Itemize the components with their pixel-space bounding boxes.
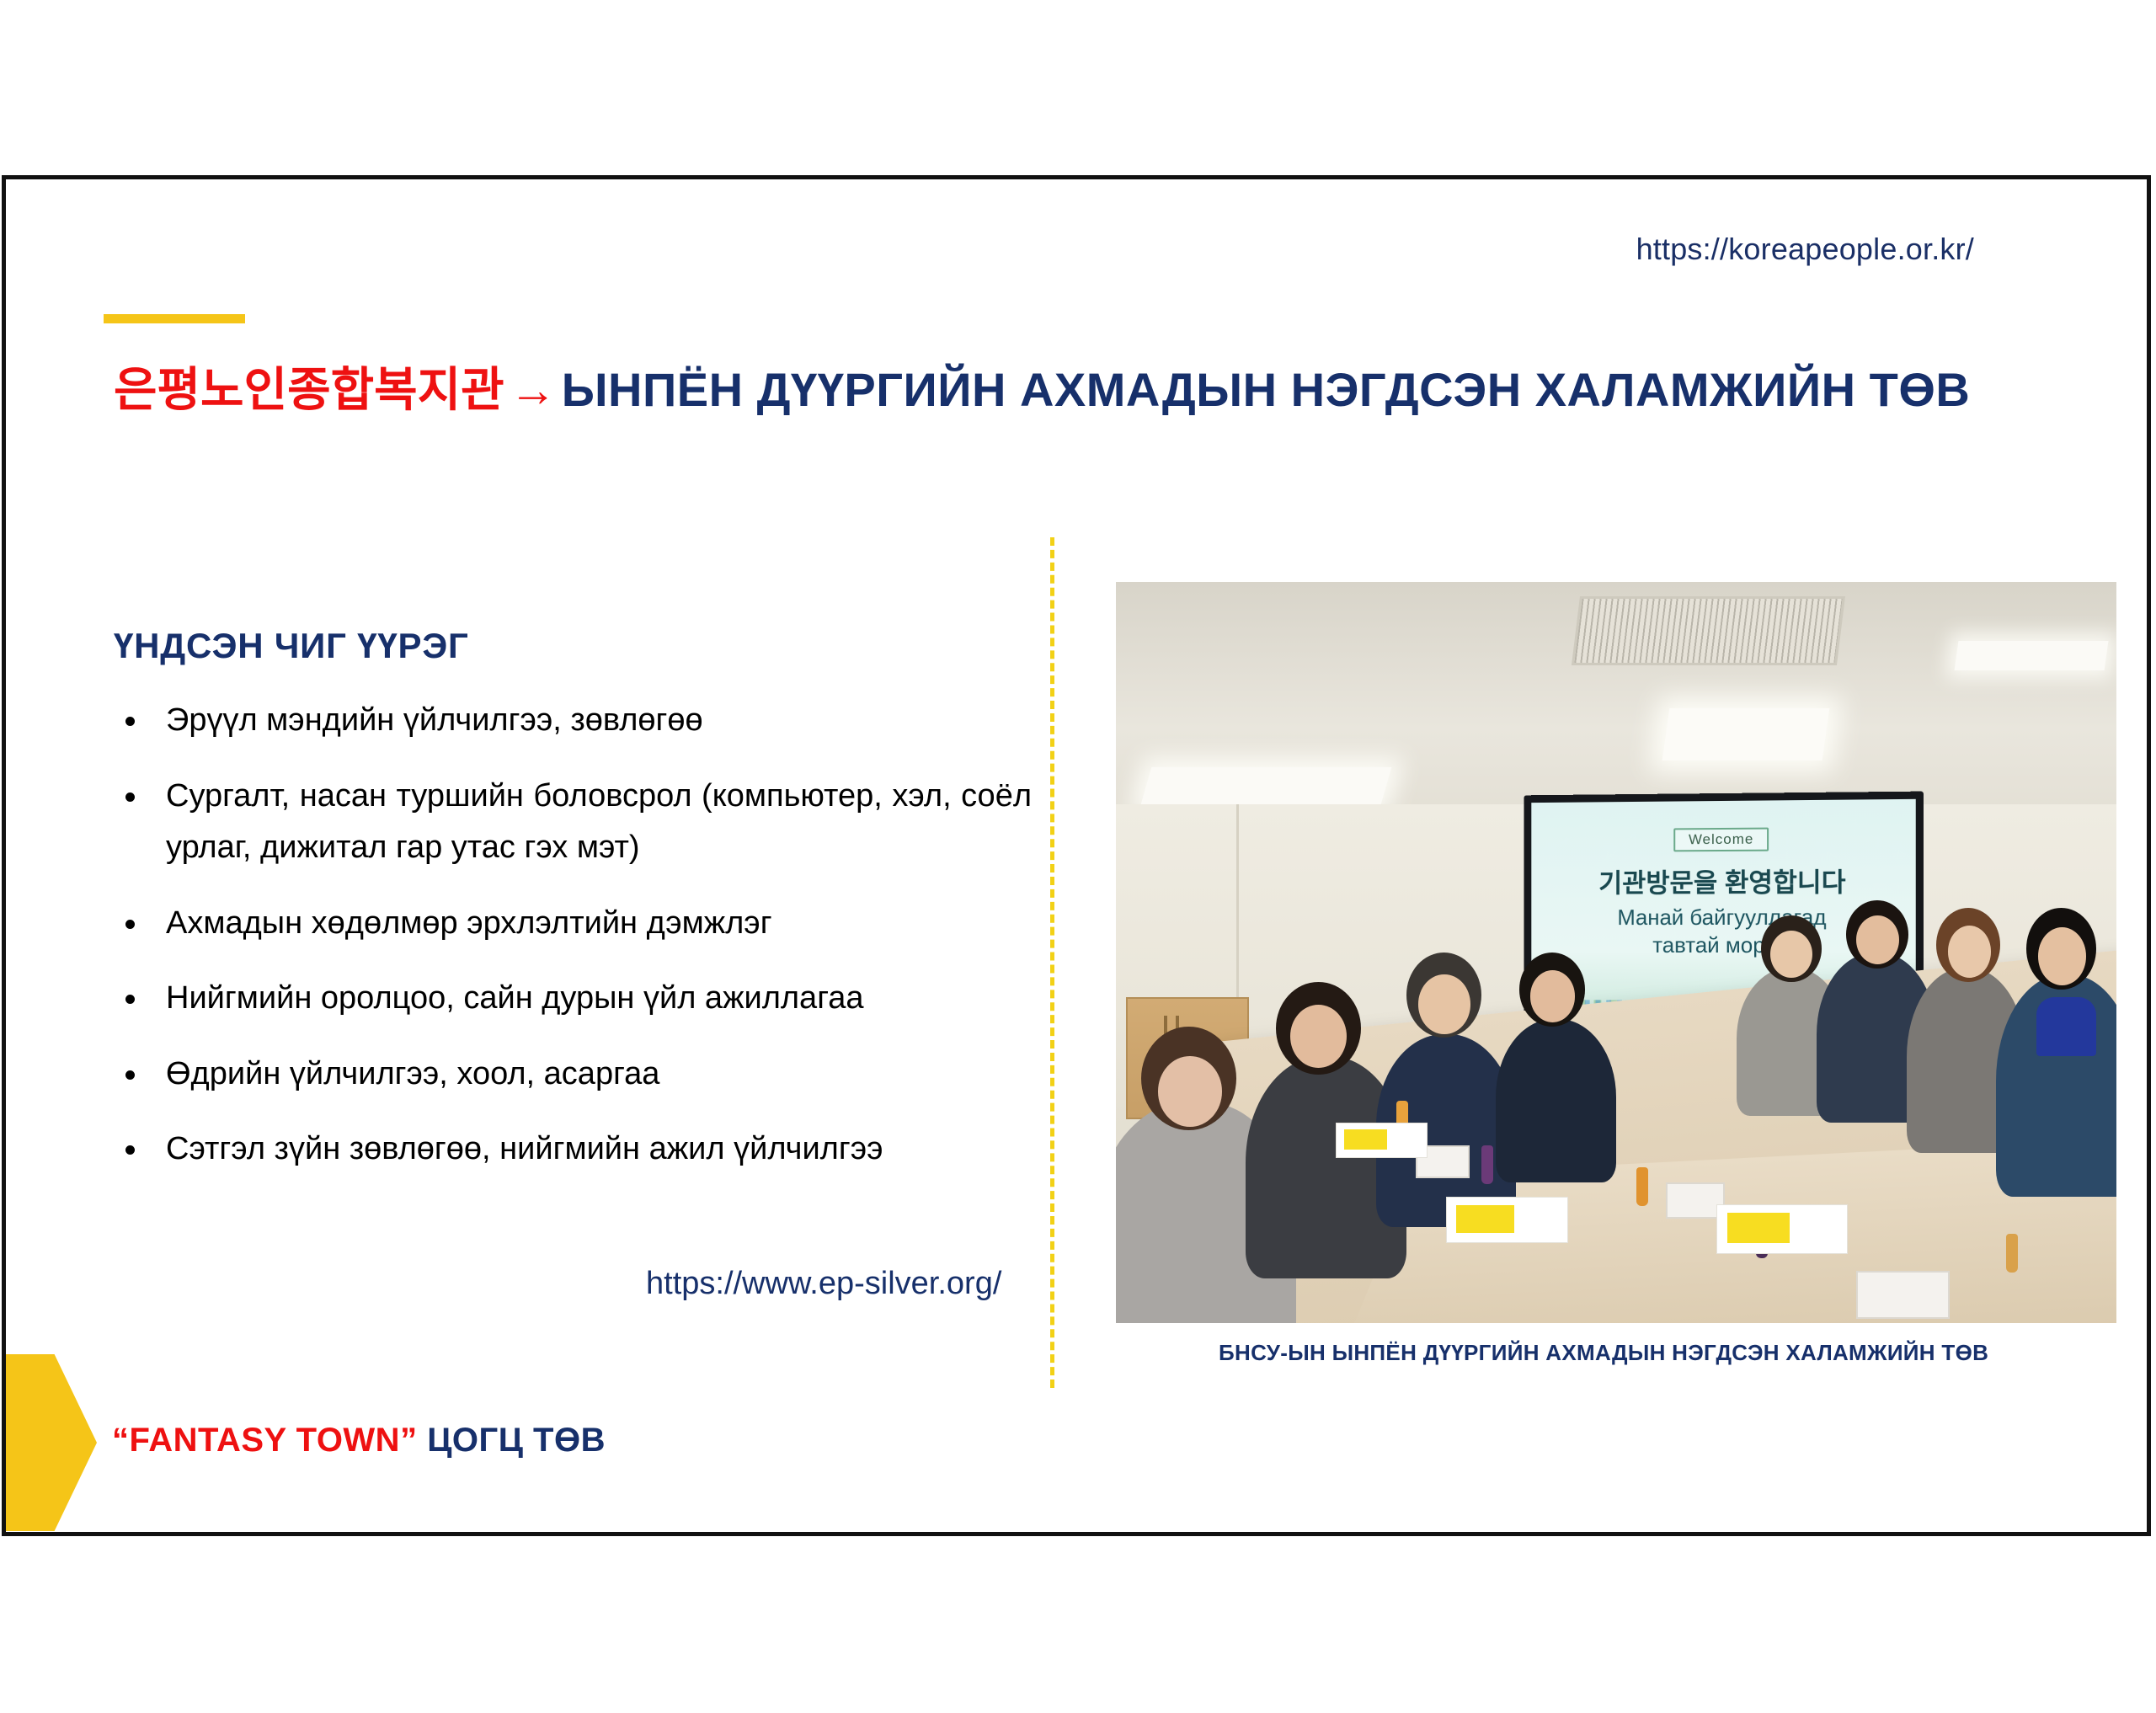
footer-highlight: “FANTASY TOWN” <box>112 1422 418 1459</box>
person-sweater <box>2036 997 2096 1056</box>
bottle-icon <box>1636 1167 1648 1206</box>
footer-suffix: ЦОГЦ ТӨВ <box>418 1422 606 1459</box>
person-face <box>1290 1005 1347 1069</box>
list-item: Өдрийн үйлчилгээ, хоол, асаргаа <box>114 1049 1032 1101</box>
yellow-accent-bar <box>104 314 245 323</box>
handout-paper <box>1446 1197 1568 1243</box>
photo-caption: БНСУ-ЫН ЫНПЁН ДҮҮРГИЙН АХМАДЫН НЭГДСЭН Х… <box>1219 1340 1988 1366</box>
section-heading: ҮНДСЭН ЧИГ ҮҮРЭГ <box>114 626 1032 666</box>
list-item: Нийгмийн оролцоо, сайн дурын үйл ажиллаг… <box>114 973 1032 1025</box>
person-face <box>1856 915 1899 964</box>
duties-list: Эрүүл мэндийн үйлчилгээ, зөвлөгөө Сургал… <box>114 695 1032 1176</box>
title-mongolian: ЫНПЁН ДҮҮРГИЙН АХМАДЫН НЭГДСЭН ХАЛАМЖИЙН… <box>562 363 1971 416</box>
left-content-column: ҮНДСЭН ЧИГ ҮҮРЭГ Эрүүл мэндийн үйлчилгээ… <box>114 626 1032 1199</box>
arrow-icon: → <box>504 363 562 416</box>
handout-paper <box>1336 1123 1428 1158</box>
vertical-dashed-divider <box>1050 537 1054 1388</box>
ceiling-light-icon <box>1954 641 2108 670</box>
slide-canvas: https://koreapeople.or.kr/ 은평노인종합복지관→ЫНП… <box>2 175 2151 1536</box>
person-figure <box>1496 1019 1616 1182</box>
bottle-icon <box>2006 1234 2018 1273</box>
page-title: 은평노인종합복지관→ЫНПЁН ДҮҮРГИЙН АХМАДЫН НЭГДСЭН… <box>114 352 1970 420</box>
title-korean: 은평노인종합복지관 <box>114 363 504 416</box>
welcome-ribbon: Welcome <box>1673 827 1769 851</box>
list-item: Эрүүл мэндийн үйлчилгээ, зөвлөгөө <box>114 695 1032 747</box>
food-tray-icon <box>1856 1271 1950 1319</box>
yellow-arrow-shape <box>3 1354 97 1531</box>
person-face <box>1418 974 1470 1033</box>
list-item: Сургалт, насан туршийн боловсрол (компью… <box>114 771 1032 874</box>
meeting-room-photo: Welcome 기관방문을 환영합니다 Манай байгууллагад т… <box>1116 582 2116 1323</box>
person-face <box>1530 970 1575 1022</box>
handout-paper <box>1716 1204 1848 1254</box>
koreapeople-url[interactable]: https://koreapeople.or.kr/ <box>1636 232 1974 267</box>
person-face <box>2038 927 2086 985</box>
list-item: Ахмадын хөдөлмөр эрхлэлтийн дэмжлэг <box>114 898 1032 950</box>
person-face <box>1770 931 1812 978</box>
photo-scene: Welcome 기관방문을 환영합니다 Манай байгууллагад т… <box>1116 582 2116 1323</box>
screen-korean-line: 기관방문을 환영합니다 <box>1598 861 1845 899</box>
ceiling-light-icon <box>1662 708 1830 760</box>
ceiling-light-icon <box>1140 767 1391 804</box>
ep-silver-url[interactable]: https://www.ep-silver.org/ <box>646 1266 1001 1302</box>
footer-label: “FANTASY TOWN” ЦОГЦ ТӨВ <box>112 1422 606 1460</box>
person-face <box>1158 1056 1222 1127</box>
bottle-icon <box>1481 1145 1493 1184</box>
list-item: Сэтгэл зүйн зөвлөгөө, нийгмийн ажил үйлч… <box>114 1123 1032 1176</box>
